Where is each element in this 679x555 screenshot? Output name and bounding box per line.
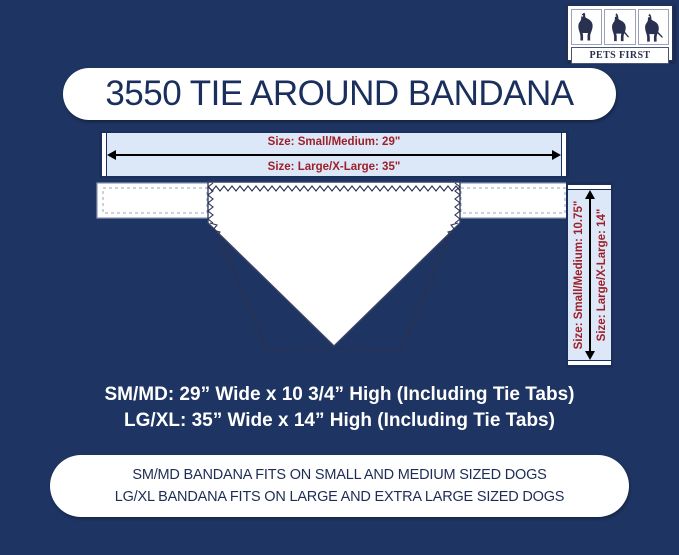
fit-note-sm-md: SM/MD BANDANA FITS ON SMALL AND MEDIUM S… (132, 464, 546, 486)
dimension-specs: SM/MD: 29” Wide x 10 3/4” High (Includin… (0, 382, 679, 434)
height-endcap-top (568, 184, 611, 190)
bandana-body (208, 182, 460, 351)
dog-sitting-icon (604, 9, 635, 45)
width-measurement-bar: Size: Small/Medium: 29" Size: Large/X-La… (99, 131, 569, 178)
logo-wordmark: PETS FIRST (571, 47, 669, 64)
height-arrow-line (589, 192, 591, 358)
height-endcap-bottom (568, 360, 611, 366)
width-arrow-line (109, 154, 559, 156)
spec-line-lg-xl: LG/XL: 35” Wide x 14” High (Including Ti… (0, 408, 679, 434)
arrow-left-icon (107, 150, 116, 160)
arrow-down-icon (585, 351, 595, 360)
spec-line-sm-md: SM/MD: 29” Wide x 10 3/4” High (Includin… (0, 382, 679, 408)
width-label-small-medium: Size: Small/Medium: 29" (101, 136, 567, 148)
fit-notes: SM/MD BANDANA FITS ON SMALL AND MEDIUM S… (50, 455, 629, 517)
arrow-up-icon (585, 190, 595, 199)
dog-sitting-icon (571, 9, 602, 45)
height-label-large-xlarge: Size: Large/X-Large: 14" (596, 209, 608, 342)
dog-sitting-icon (638, 9, 669, 45)
page-title: 3550 TIE AROUND BANDANA (63, 68, 616, 120)
bandana-shape-diagram (96, 181, 572, 353)
width-label-large-xlarge: Size: Large/X-Large: 35" (101, 161, 567, 173)
logo-dog-panels (571, 9, 669, 45)
pets-first-logo: PETS FIRST (566, 4, 674, 62)
right-tie-tab (455, 183, 571, 218)
product-spec-sheet: PETS FIRST 3550 TIE AROUND BANDANA Size:… (0, 0, 679, 555)
height-label-small-medium: Size: Small/Medium: 10.75" (573, 201, 585, 350)
fit-note-lg-xl: LG/XL BANDANA FITS ON LARGE AND EXTRA LA… (115, 486, 565, 508)
height-measurement-bar: Size: Small/Medium: 10.75" Size: Large/X… (566, 182, 613, 368)
left-tie-tab (97, 183, 213, 218)
arrow-right-icon (552, 150, 561, 160)
page-title-text: 3550 TIE AROUND BANDANA (105, 74, 573, 114)
